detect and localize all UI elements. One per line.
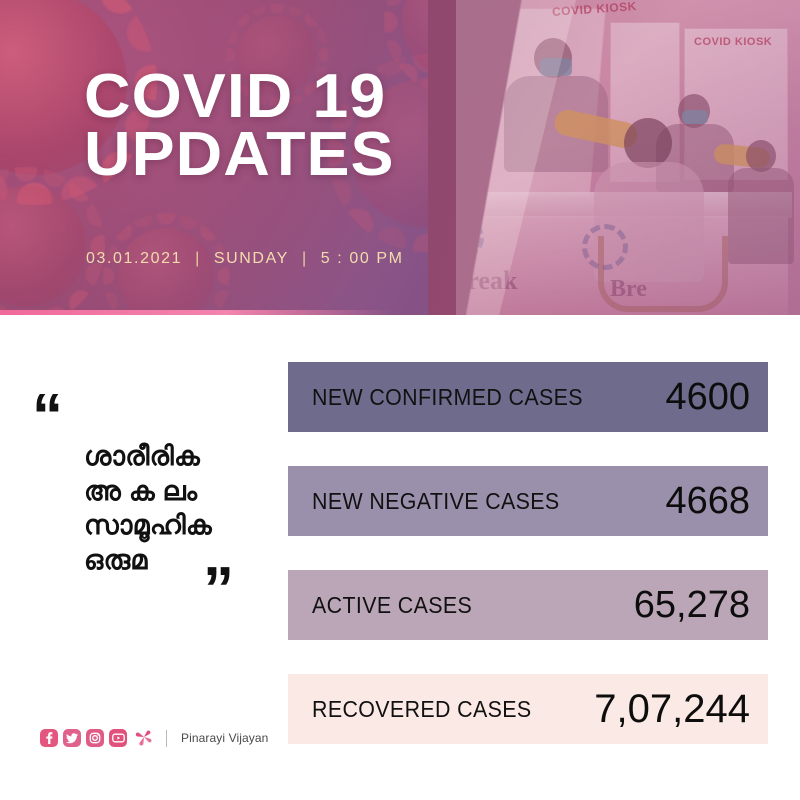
- stat-value: 7,07,244: [594, 687, 750, 732]
- footer-name: Pinarayi Vijayan: [181, 731, 268, 745]
- poster-header: COVID KIOSK COVID KIOSK Break Bre COVID …: [0, 0, 800, 315]
- update-date: 03.01.2021: [86, 250, 182, 268]
- stat-row: NEW NEGATIVE CASES4668: [288, 466, 768, 536]
- stat-label: NEW CONFIRMED CASES: [312, 384, 583, 411]
- update-time: 5 : 00 PM: [321, 250, 404, 268]
- stats-list: NEW CONFIRMED CASES4600NEW NEGATIVE CASE…: [288, 362, 768, 744]
- facebook-icon[interactable]: [40, 729, 58, 747]
- stat-row: NEW CONFIRMED CASES4600: [288, 362, 768, 432]
- quote-close-icon: ”: [26, 571, 276, 608]
- stat-value: 4668: [665, 480, 750, 523]
- stat-label: ACTIVE CASES: [312, 592, 472, 619]
- footer: Pinarayi Vijayan: [40, 729, 268, 747]
- stat-value: 4600: [665, 376, 750, 419]
- header-accent-rule: [0, 310, 392, 315]
- update-day: SUNDAY: [214, 250, 289, 268]
- meta-separator: |: [289, 250, 321, 268]
- coronavirus-graphic: [0, 186, 86, 306]
- slogan-block: “ ശാരീരിക അ ക ലം സാമൂഹിക ഒരുമ ”: [26, 398, 276, 609]
- youtube-icon[interactable]: [109, 729, 127, 747]
- page-title: COVID 19 UPDATES: [84, 68, 395, 185]
- brand-pinwheel-icon[interactable]: [135, 729, 153, 747]
- covid-update-poster: COVID KIOSK COVID KIOSK Break Bre COVID …: [0, 0, 800, 800]
- header-photo: COVID KIOSK COVID KIOSK Break Bre: [428, 0, 800, 315]
- footer-divider: [166, 730, 167, 747]
- instagram-icon[interactable]: [86, 729, 104, 747]
- coronavirus-graphic: [118, 228, 214, 315]
- header-meta: 03.01.2021 | SUNDAY | 5 : 00 PM: [86, 250, 404, 268]
- slogan-text: ശാരീരിക അ ക ലം സാമൂഹിക ഒരുമ: [26, 439, 276, 577]
- stat-label: RECOVERED CASES: [312, 696, 532, 723]
- stat-value: 65,278: [634, 584, 750, 627]
- stat-row: RECOVERED CASES7,07,244: [288, 674, 768, 744]
- twitter-icon[interactable]: [63, 729, 81, 747]
- meta-separator: |: [182, 250, 214, 268]
- stat-row: ACTIVE CASES65,278: [288, 570, 768, 640]
- quote-open-icon: “: [32, 398, 276, 435]
- stat-label: NEW NEGATIVE CASES: [312, 488, 560, 515]
